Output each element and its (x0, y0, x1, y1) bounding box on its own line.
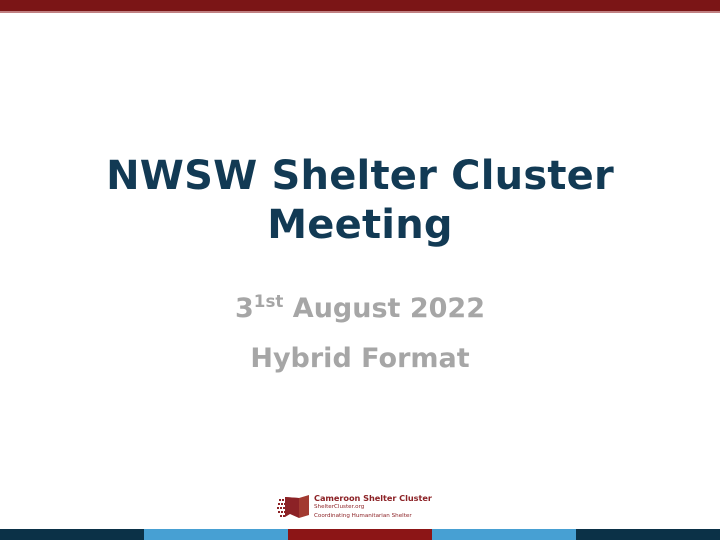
subtitle-date-ordinal: 1st (254, 291, 284, 311)
title-block: NWSW Shelter Cluster Meeting (60, 152, 660, 250)
segment-navy-left (0, 529, 144, 540)
segment-navy-right (576, 529, 720, 540)
subtitle-format: Hybrid Format (60, 342, 660, 376)
logo-text-block: Cameroon Shelter Cluster ShelterCluster.… (314, 494, 442, 521)
logo-website: ShelterCluster.org (314, 504, 442, 512)
logo-organization-name: Cameroon Shelter Cluster (314, 494, 442, 503)
page-title: NWSW Shelter Cluster Meeting (60, 152, 660, 250)
segment-blue-right (432, 529, 576, 540)
subtitle-date-day: 3 (235, 293, 254, 324)
subtitle-date: 31st August 2022 (60, 292, 660, 326)
segment-red-center (288, 529, 432, 540)
bottom-accent-bar (0, 529, 720, 540)
top-accent-bar (0, 0, 720, 11)
shelter-house-logo-icon (277, 491, 311, 523)
logo-tagline: Coordinating Humanitarian Shelter (314, 513, 442, 521)
organization-logo: Cameroon Shelter Cluster ShelterCluster.… (277, 489, 442, 525)
segment-blue-left (144, 529, 288, 540)
subtitle-date-monthyear: August 2022 (283, 293, 485, 324)
subtitle-block: 31st August 2022 Hybrid Format (60, 292, 660, 376)
top-accent-hairline (0, 11, 720, 13)
presentation-slide: NWSW Shelter Cluster Meeting 31st August… (0, 0, 720, 540)
